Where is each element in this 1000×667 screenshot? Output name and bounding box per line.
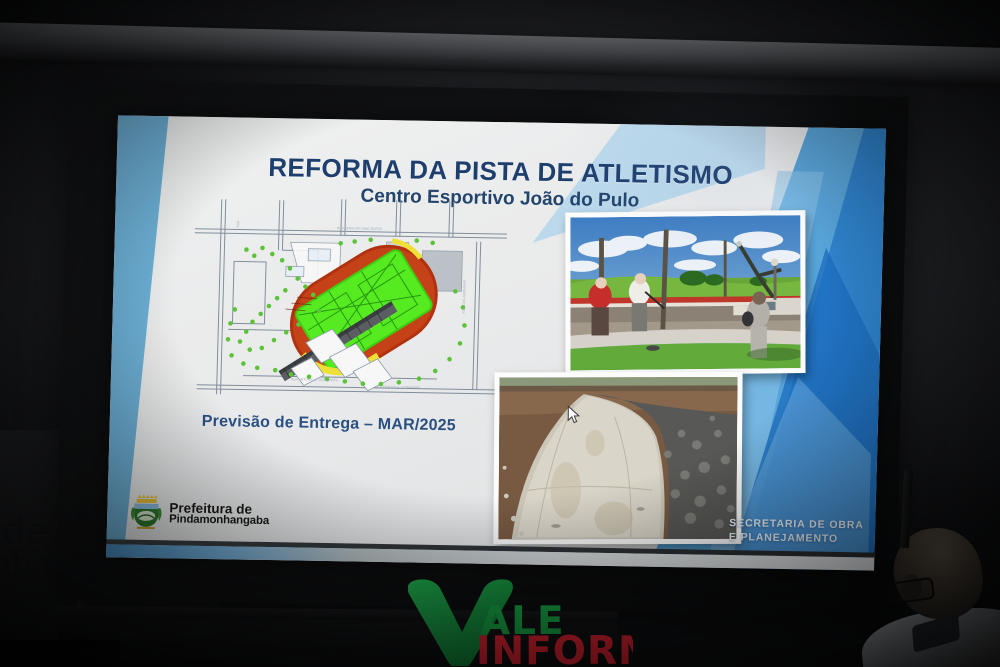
table-under-shadow	[58, 617, 618, 667]
logo-line2: Pindamonhangaba	[169, 514, 269, 527]
conference-room-scene: de aba REFORMA DA PISTA DE ATLETISMO Cen…	[0, 0, 1000, 667]
photo-finished-walkway	[493, 372, 742, 544]
secretariat-line2: E PLANEJAMENTO	[729, 531, 839, 545]
svg-text:RUA: RUA	[236, 220, 240, 228]
svg-text:RUA DOS ANDRADAS: RUA DOS ANDRADAS	[462, 280, 467, 314]
projected-slide: REFORMA DA PISTA DE ATLETISMO Centro Esp…	[106, 115, 886, 570]
secretariat-label: SECRETARIA DE OBRA E PLANEJAMENTO	[729, 516, 880, 547]
coat-of-arms-icon	[129, 494, 164, 533]
prefeitura-logo: Prefeitura de Pindamonhangaba	[129, 494, 270, 534]
wall-signage-line2: aba	[0, 550, 52, 581]
svg-text:RUA SENADOR DINO BUENO: RUA SENADOR DINO BUENO	[337, 226, 383, 231]
wall-signage-line1: de	[2, 514, 52, 550]
delivery-forecast: Previsão de Entrega – MAR/2025	[202, 413, 457, 435]
svg-text:AV. GERALDO A. GUIMARAES: AV. GERALDO A. GUIMARAES	[375, 385, 421, 390]
wall-signage: de aba	[2, 514, 52, 581]
foreground-dark-object	[0, 640, 120, 667]
mouse-pointer	[567, 405, 580, 424]
svg-text:RUA ANTONIO A. GUIMARAES: RUA ANTONIO A. GUIMARAES	[291, 377, 338, 382]
secretariat-line1: SECRETARIA DE OBRA	[729, 517, 864, 531]
slide-canvas: REFORMA DA PISTA DE ATLETISMO Centro Esp…	[106, 115, 886, 570]
photo-concrete-pour	[565, 210, 805, 375]
stadium-site-plan: RUA RUA ANTONIO A. GUIMARAES AV. GERALDO…	[186, 189, 512, 410]
